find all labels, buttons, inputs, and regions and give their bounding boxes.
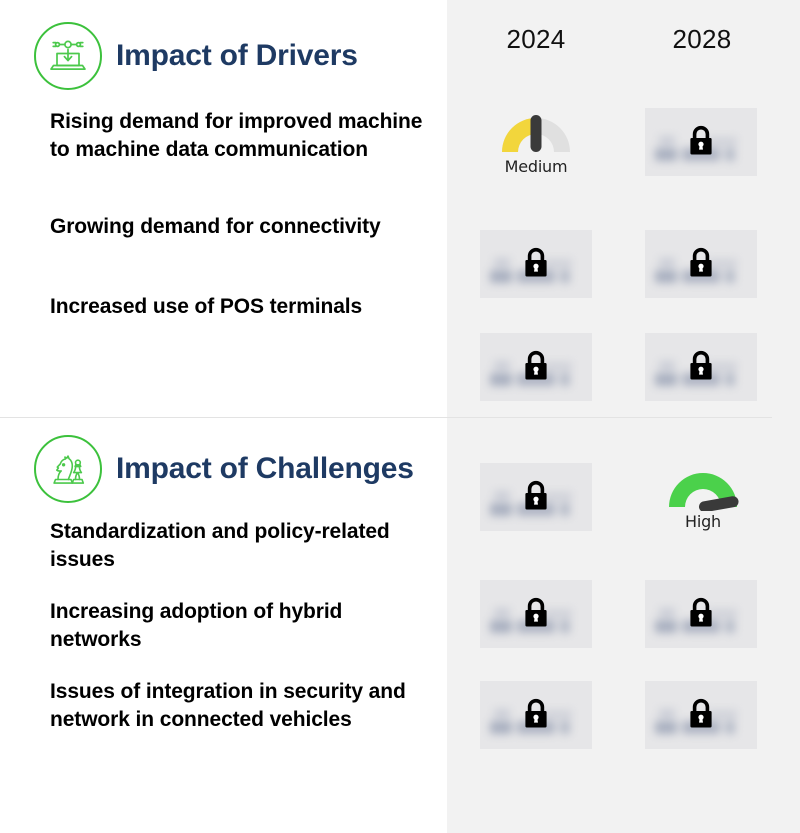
locked-tile-challenges-3-2024[interactable] bbox=[480, 681, 592, 749]
gauge-label-medium: Medium bbox=[480, 157, 592, 176]
locked-tile-challenges-1-2024[interactable] bbox=[480, 463, 592, 531]
driver-item-2: Growing demand for connectivity bbox=[50, 213, 430, 241]
lock-icon bbox=[521, 246, 551, 280]
section-title-challenges: Impact of Challenges bbox=[116, 452, 414, 486]
locked-tile-drivers-2-2024[interactable] bbox=[480, 230, 592, 298]
laptop-data-download-icon bbox=[34, 22, 102, 90]
lock-icon bbox=[521, 349, 551, 383]
chess-pieces-icon bbox=[34, 435, 102, 503]
locked-tile-challenges-3-2028[interactable] bbox=[645, 681, 757, 749]
locked-tile-drivers-3-2028[interactable] bbox=[645, 333, 757, 401]
challenge-item-3: Issues of integration in security and ne… bbox=[50, 678, 430, 734]
lock-icon bbox=[686, 246, 716, 280]
lock-icon bbox=[686, 124, 716, 158]
lock-icon bbox=[686, 697, 716, 731]
section-header-drivers: Impact of Drivers bbox=[34, 22, 358, 90]
section-divider bbox=[0, 417, 772, 418]
impact-matrix-infographic: 2024 2028 Impact of Drivers Rising deman… bbox=[0, 0, 800, 833]
lock-icon bbox=[686, 349, 716, 383]
driver-item-1: Rising demand for improved machine to ma… bbox=[50, 108, 430, 164]
section-title-drivers: Impact of Drivers bbox=[116, 39, 358, 73]
column-header-2028: 2028 bbox=[642, 24, 762, 55]
column-header-2024: 2024 bbox=[476, 24, 596, 55]
lock-icon bbox=[521, 697, 551, 731]
gauge-drivers-1-2024: Medium bbox=[480, 108, 592, 176]
locked-tile-drivers-2-2028[interactable] bbox=[645, 230, 757, 298]
challenge-item-2: Increasing adoption of hybrid networks bbox=[50, 598, 430, 654]
challenge-item-1: Standardization and policy-related issue… bbox=[50, 518, 430, 574]
section-header-challenges: Impact of Challenges bbox=[34, 435, 414, 503]
gauge-label-high: High bbox=[647, 512, 759, 531]
locked-tile-drivers-3-2024[interactable] bbox=[480, 333, 592, 401]
lock-icon bbox=[686, 596, 716, 630]
locked-tile-drivers-1-2028[interactable] bbox=[645, 108, 757, 176]
lock-icon bbox=[521, 479, 551, 513]
driver-item-3: Increased use of POS terminals bbox=[50, 293, 430, 321]
lock-icon bbox=[521, 596, 551, 630]
locked-tile-challenges-2-2024[interactable] bbox=[480, 580, 592, 648]
locked-tile-challenges-2-2028[interactable] bbox=[645, 580, 757, 648]
gauge-challenges-1-2028: High bbox=[647, 463, 759, 531]
